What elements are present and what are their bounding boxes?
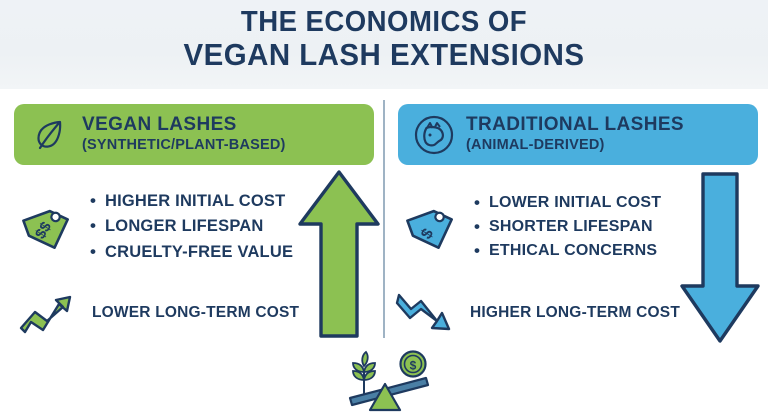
list-item: HIGHER INITIAL COST xyxy=(90,189,293,214)
header-vegan-lashes: VEGAN LASHES (SYNTHETIC/PLANT-BASED) xyxy=(14,104,374,165)
page-title: THE ECONOMICS OF VEGAN LASH EXTENSIONS xyxy=(0,6,768,73)
header-traditional-lashes: TRADITIONAL LASHES (ANIMAL-DERIVED) xyxy=(398,104,758,165)
header-vegan-subtitle: (SYNTHETIC/PLANT-BASED) xyxy=(82,137,286,154)
header-traditional-text: TRADITIONAL LASHES (ANIMAL-DERIVED) xyxy=(456,115,684,153)
list-item: LONGER LIFESPAN xyxy=(90,214,293,239)
price-tag-dollar-icon: $$ xyxy=(14,194,80,260)
vegan-bullet-list: HIGHER INITIAL COST LONGER LIFESPAN CRUE… xyxy=(80,189,293,264)
big-down-arrow-icon xyxy=(678,170,762,350)
balance-scale-plant-vs-coin-icon: $ xyxy=(330,348,440,412)
animal-head-circle-icon xyxy=(412,113,456,157)
list-item: LOWER INITIAL COST xyxy=(474,191,661,215)
traditional-bullet-list: LOWER INITIAL COST SHORTER LIFESPAN ETHI… xyxy=(464,191,661,264)
title-line-1: THE ECONOMICS OF xyxy=(19,6,749,38)
trend-down-arrow-icon xyxy=(392,287,464,339)
header-traditional-title: TRADITIONAL LASHES xyxy=(466,115,684,136)
dollar-coin-icon: $ xyxy=(401,352,426,377)
header-vegan-text: VEGAN LASHES (SYNTHETIC/PLANT-BASED) xyxy=(72,115,286,153)
price-tag-dollar-icon: $ xyxy=(398,194,464,260)
traditional-trend-label: HIGHER LONG-TERM COST xyxy=(464,304,680,322)
plant-icon xyxy=(353,352,375,396)
vegan-trend-label: LOWER LONG-TERM COST xyxy=(86,304,299,322)
title-line-2: VEGAN LASH EXTENSIONS xyxy=(19,38,749,73)
list-item: ETHICAL CONCERNS xyxy=(474,239,661,263)
svg-text:$: $ xyxy=(410,359,417,373)
header-vegan-title: VEGAN LASHES xyxy=(82,115,286,136)
leaf-icon xyxy=(28,113,72,157)
big-up-arrow-icon xyxy=(296,168,382,345)
list-item: SHORTER LIFESPAN xyxy=(474,215,661,239)
list-item: CRUELTY-FREE VALUE xyxy=(90,240,293,265)
header-traditional-subtitle: (ANIMAL-DERIVED) xyxy=(466,137,684,154)
trend-up-arrow-icon xyxy=(14,287,86,339)
infographic-canvas: THE ECONOMICS OF VEGAN LASH EXTENSIONS V… xyxy=(0,0,768,419)
